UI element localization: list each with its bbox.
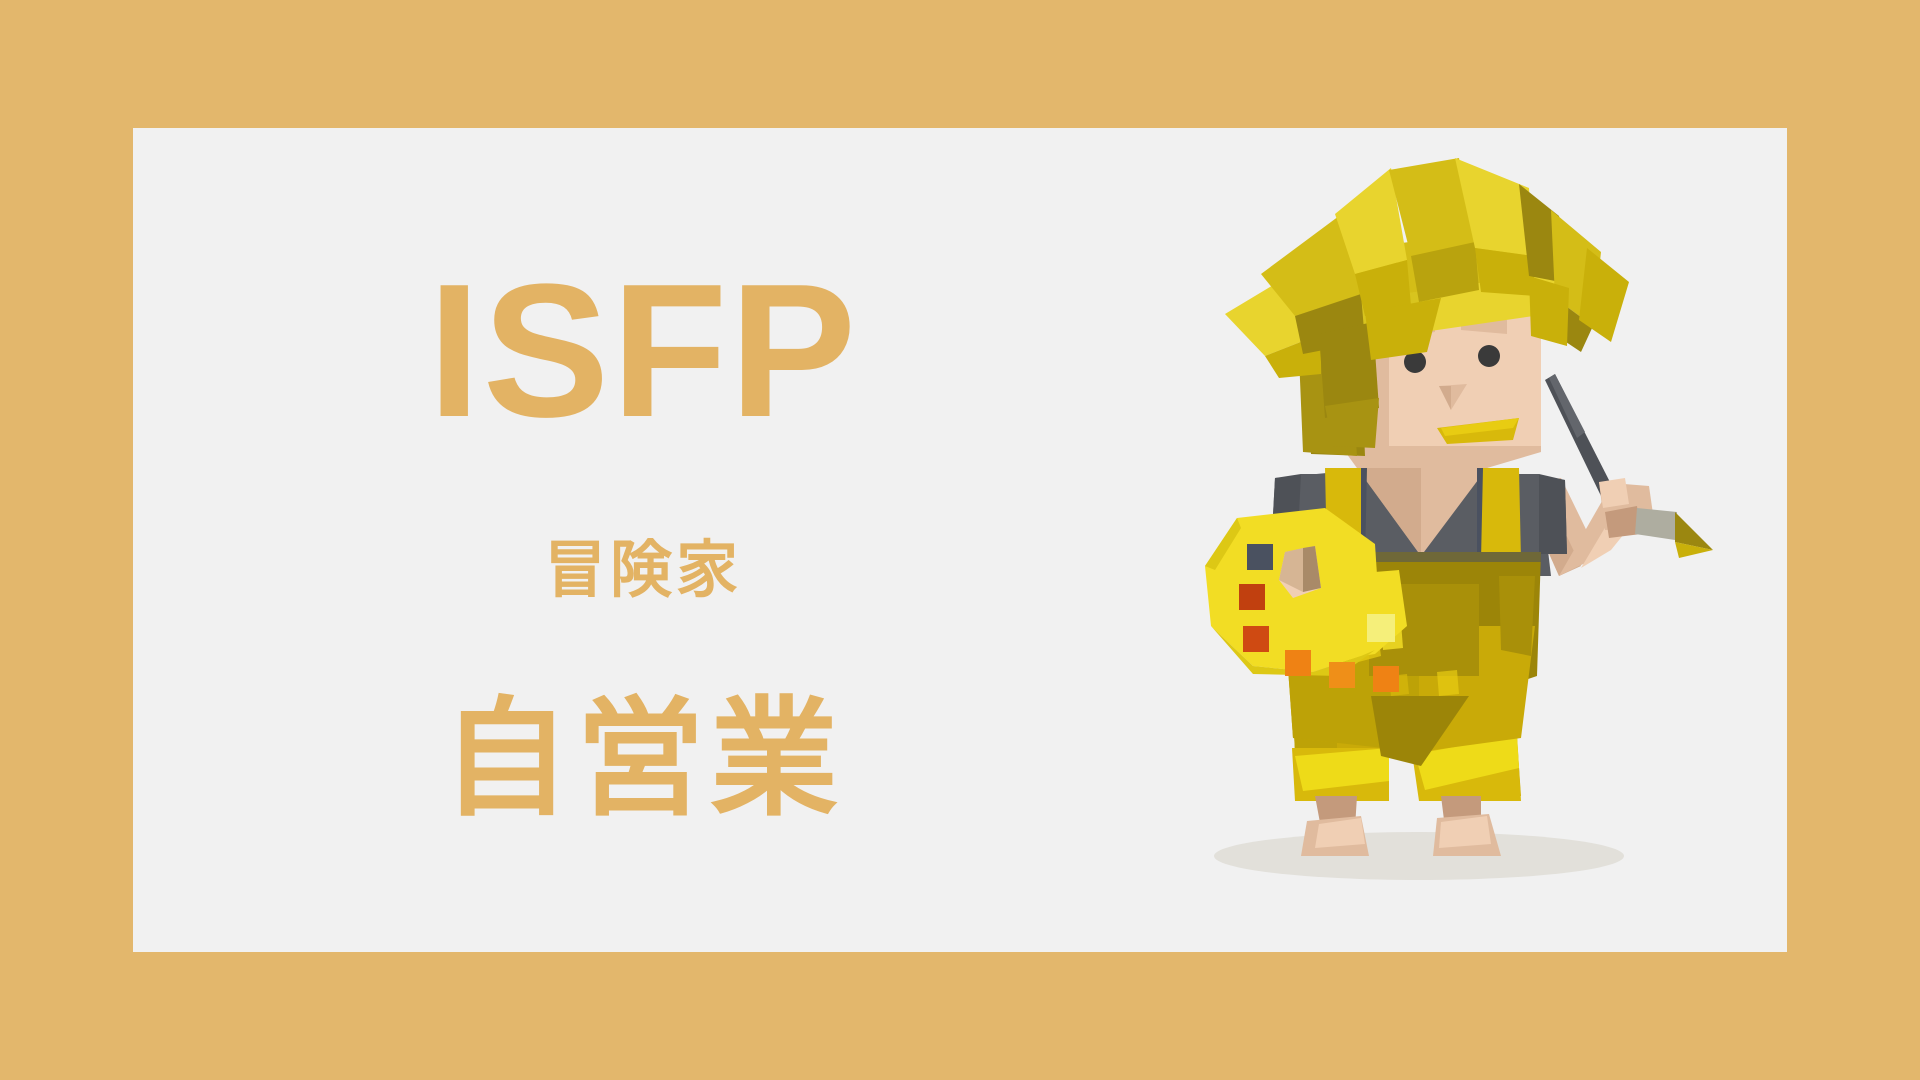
brush-handle-highlight <box>1549 374 1585 438</box>
overalls-right-fold <box>1499 576 1535 656</box>
dab-orange-2 <box>1329 662 1355 688</box>
eye-right <box>1478 345 1500 367</box>
right-hand-thumb <box>1599 478 1629 508</box>
hair-fringe-strand-left-tip <box>1325 398 1379 448</box>
dab-navy <box>1247 544 1273 570</box>
dab-red <box>1243 626 1269 652</box>
brush-ferrule <box>1635 508 1677 540</box>
slide-root: ISFP 冒険家 自営業 <box>0 0 1920 1080</box>
recommended-occupation: 自営業 <box>133 696 1153 824</box>
dab-pale-yellow <box>1367 614 1395 642</box>
content-card: ISFP 冒険家 自営業 <box>133 128 1787 952</box>
dab-orange-3 <box>1373 666 1399 692</box>
dab-orange-1 <box>1285 650 1311 676</box>
overalls-strap-right <box>1477 468 1521 560</box>
personality-type-code: ISFP <box>133 256 1153 446</box>
painter-character-illustration <box>1089 156 1749 936</box>
paint-smudge-4 <box>1437 670 1459 696</box>
personality-type-nickname: 冒険家 <box>133 540 1153 602</box>
ground-shadow-ellipse <box>1214 832 1624 880</box>
hair-temple-right <box>1529 276 1569 346</box>
jaw-shade <box>1389 446 1541 468</box>
tshirt-right-sleeve-shade <box>1539 474 1567 554</box>
hair-spike-5-shade <box>1475 248 1535 296</box>
dab-dark-red <box>1239 584 1265 610</box>
